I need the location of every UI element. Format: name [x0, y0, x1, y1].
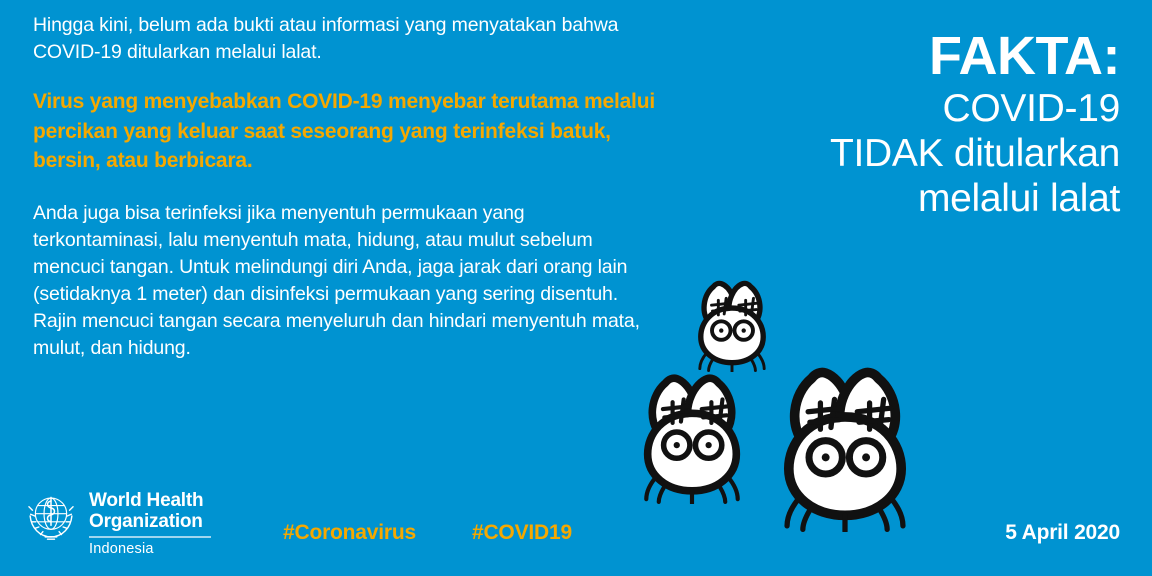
hashtag-coronavirus[interactable]: #Coronavirus — [283, 521, 416, 545]
headline-line-1: COVID-19 — [690, 86, 1120, 131]
who-name-line2: Organization — [89, 511, 211, 532]
who-emblem-icon — [22, 487, 80, 545]
headline-fakta-label: FAKTA: — [690, 26, 1120, 86]
who-country-label: Indonesia — [89, 541, 211, 557]
who-wordmark: World Health Organization Indonesia — [89, 487, 211, 557]
who-divider — [89, 536, 211, 538]
who-logo: World Health Organization Indonesia — [22, 487, 211, 557]
poster-canvas: Hingga kini, belum ada bukti atau inform… — [0, 0, 1152, 576]
headline-block: FAKTA: COVID-19 TIDAK ditularkan melalui… — [690, 26, 1120, 221]
headline-line-3: melalui lalat — [690, 176, 1120, 221]
highlight-paragraph: Virus yang menyebabkan COVID-19 menyebar… — [33, 87, 658, 176]
fly-medium-icon — [622, 362, 762, 504]
fly-large-icon — [757, 352, 933, 532]
who-name-line1: World Health — [89, 490, 211, 511]
text-column: Hingga kini, belum ada bukti atau inform… — [33, 12, 658, 362]
detail-paragraph: Anda juga bisa terinfeksi jika menyentuh… — [33, 200, 658, 362]
headline-line-2: TIDAK ditularkan — [690, 131, 1120, 176]
hashtag-group: #Coronavirus #COVID19 — [283, 521, 572, 545]
hashtag-covid19[interactable]: #COVID19 — [472, 521, 572, 545]
intro-paragraph: Hingga kini, belum ada bukti atau inform… — [33, 12, 658, 65]
date-stamp: 5 April 2020 — [1005, 521, 1120, 545]
